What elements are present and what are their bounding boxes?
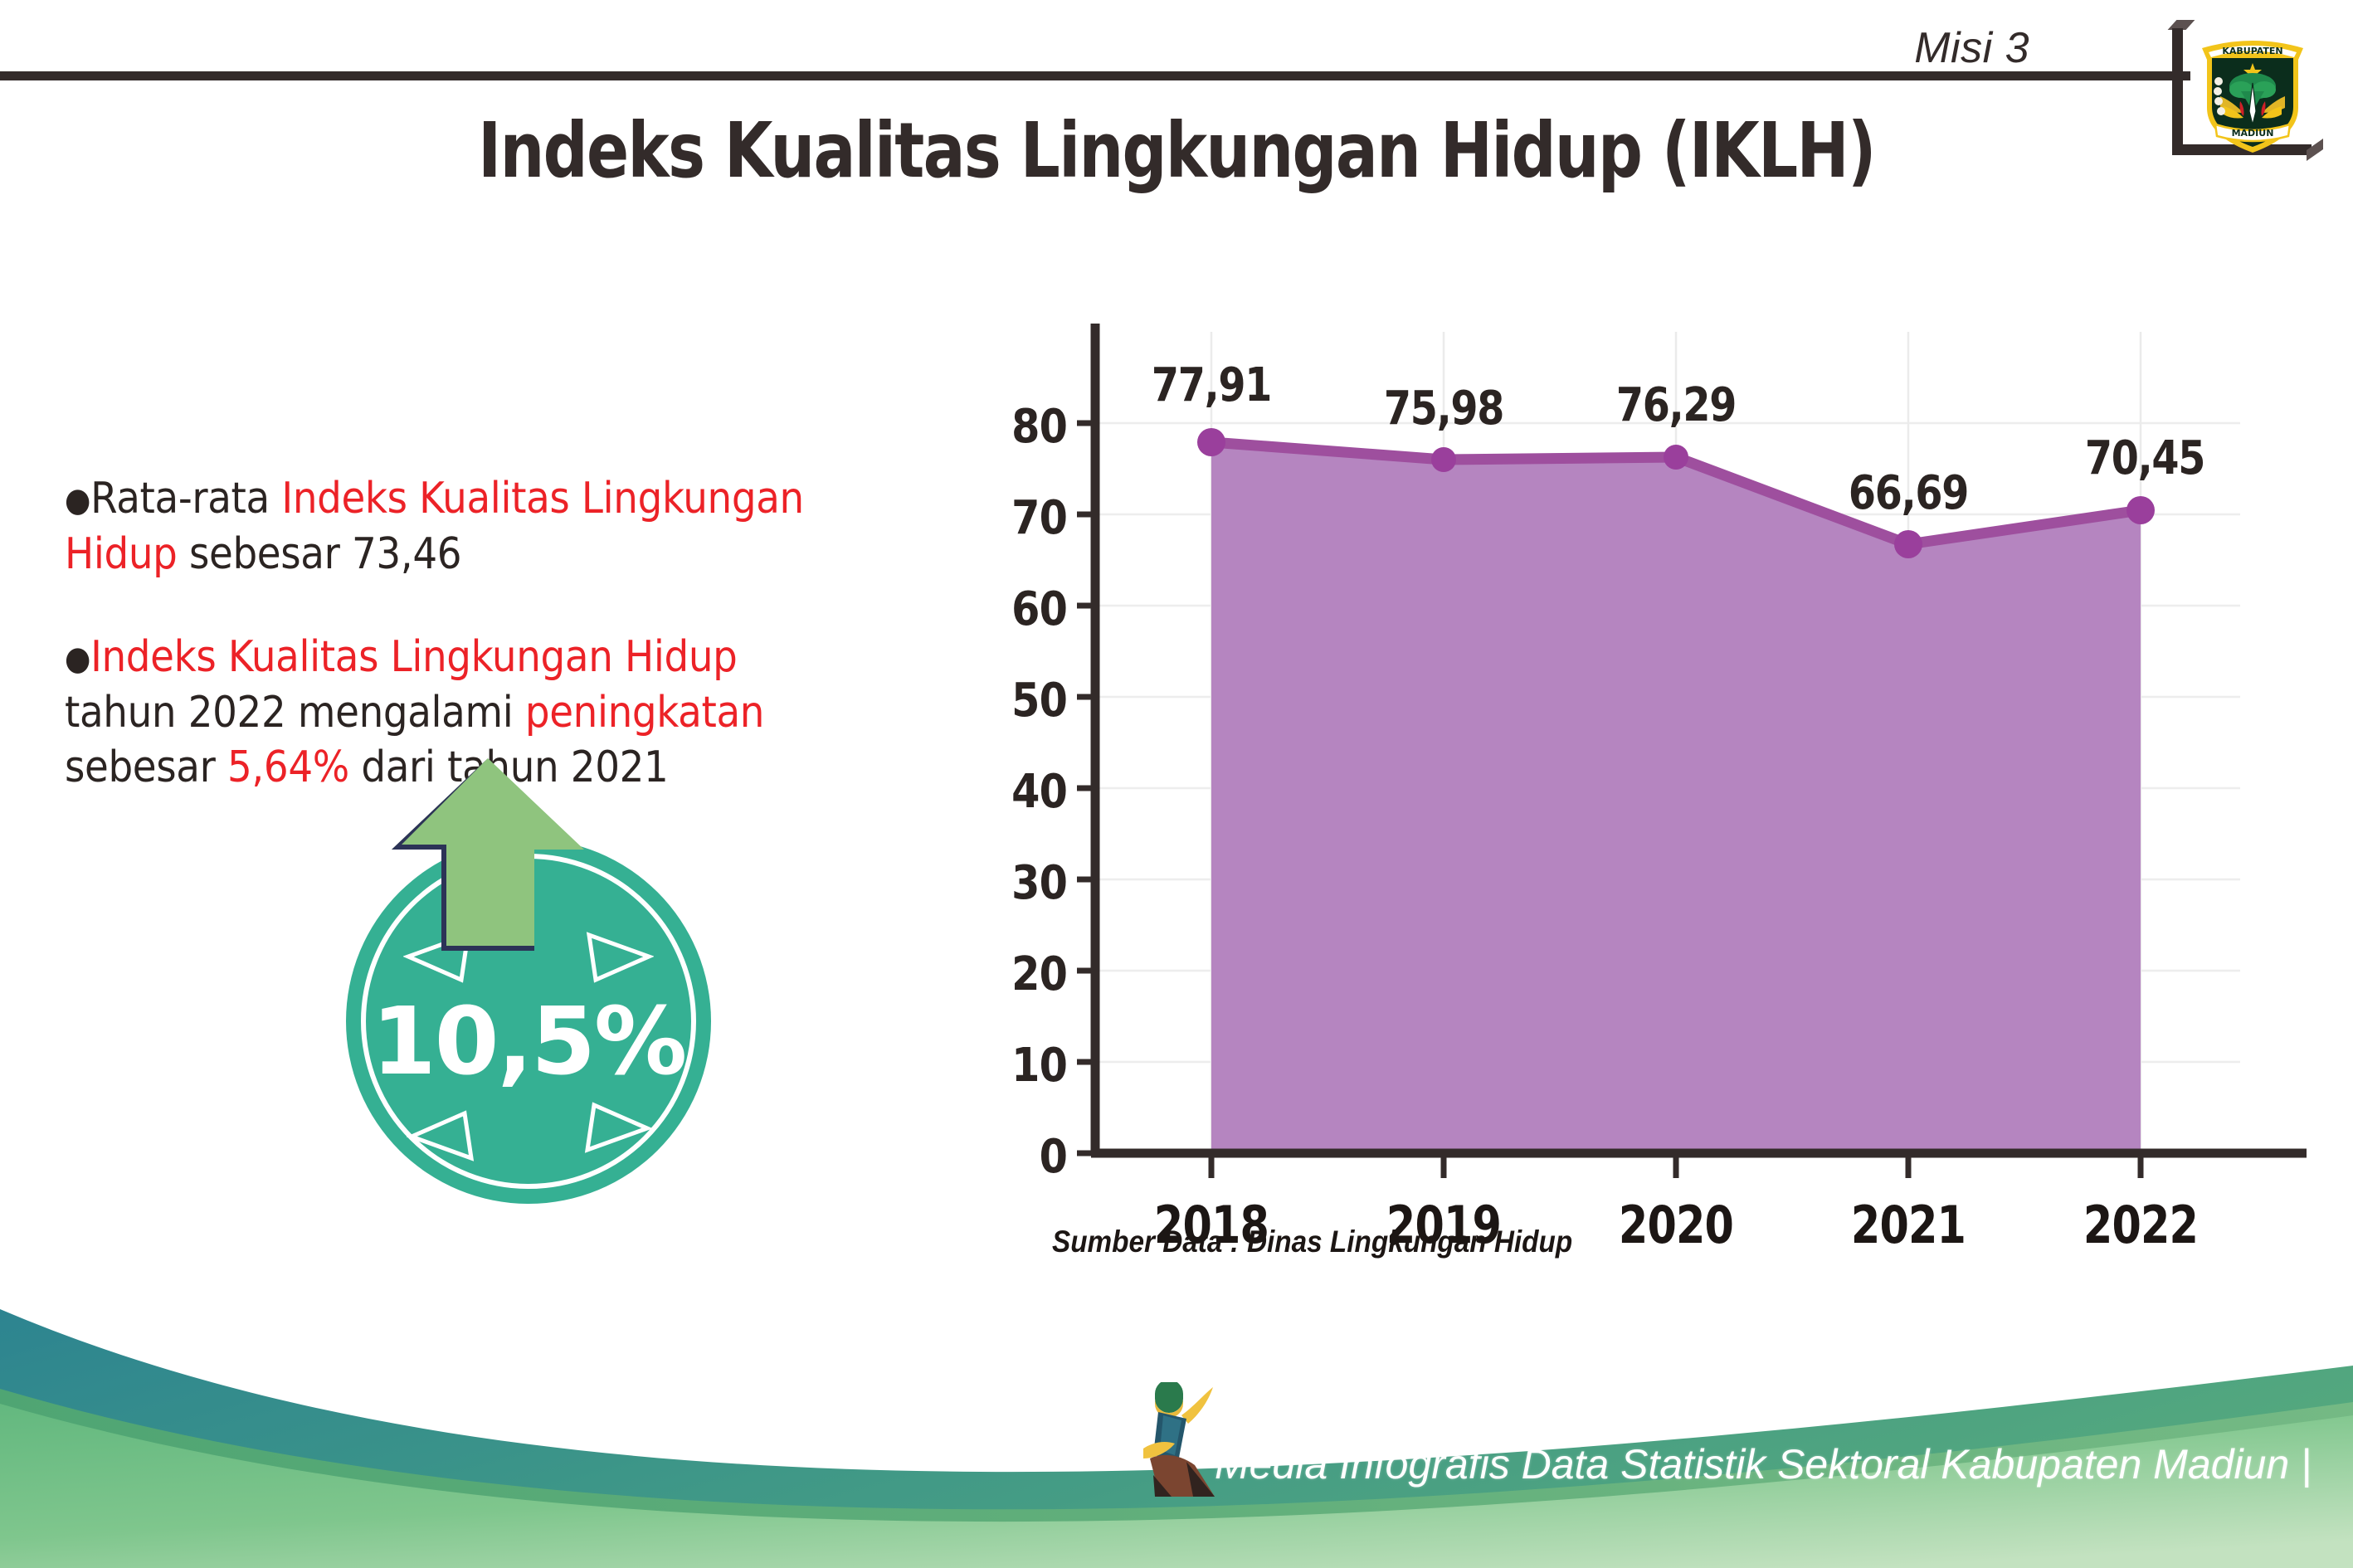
badge-tick-bottom-left-icon	[407, 1108, 476, 1163]
data-label-2021: 66,69	[1827, 466, 1990, 520]
bullet-dot-icon: ●	[65, 640, 90, 678]
kabupaten-madiun-crest-icon: KABUPATEN MADIUN	[2195, 32, 2310, 156]
y-tick-label-0: 0	[982, 1130, 1067, 1184]
svg-text:KABUPATEN: KABUPATEN	[2222, 46, 2282, 56]
footer-caption: Media Infografis Data Statistik Sektoral…	[1215, 1440, 2312, 1488]
logo-frame: KABUPATEN MADIUN	[2152, 18, 2343, 163]
area-fill	[1211, 442, 2141, 1153]
badge-tick-top-right-icon	[584, 930, 654, 985]
up-arrow-icon	[388, 752, 587, 959]
badge-tick-bottom-right-icon	[582, 1100, 652, 1155]
y-tick-label-70: 70	[982, 491, 1067, 545]
data-label-2018: 77,91	[1130, 358, 1293, 412]
y-tick-label-60: 60	[982, 582, 1067, 636]
badge-percent-label: 10,5%	[346, 988, 711, 1096]
data-label-2020: 76,29	[1595, 378, 1757, 432]
x-tick-label-2022: 2022	[2059, 1195, 2223, 1255]
bullet-2-seg-3: sebesar	[65, 743, 227, 792]
y-tick-label-30: 30	[982, 856, 1067, 910]
bullet-dot-icon: ●	[65, 481, 90, 519]
data-label-2019: 75,98	[1362, 382, 1525, 436]
svg-text:MADIUN: MADIUN	[2232, 128, 2274, 139]
frame-vertical-bar	[2172, 28, 2183, 154]
y-tick-label-10: 10	[982, 1039, 1067, 1093]
y-tick-label-20: 20	[982, 947, 1067, 1001]
header-divider	[0, 71, 2190, 80]
mission-label: Misi 3	[1914, 23, 2029, 73]
data-label-2022: 70,45	[2063, 431, 2226, 485]
bullet-2-seg-0: Indeks Kualitas Lingkungan Hidup	[90, 632, 737, 682]
infographic-slide: Misi 3	[0, 0, 2353, 1568]
bullet-1-seg-0: Rata-rata	[90, 474, 281, 523]
x-tick-label-2021: 2021	[1827, 1195, 1990, 1255]
source-note: Sumber Data : Dinas Lingkungan Hidup	[1052, 1225, 1572, 1259]
bullet-2-seg-2: peningkatan	[525, 688, 764, 738]
y-tick-label-40: 40	[982, 765, 1067, 819]
page-title: Indeks Kualitas Lingkungan Hidup (IKLH)	[212, 106, 2141, 195]
bullet-1-seg-2: sebesar 73,46	[177, 529, 461, 579]
x-tick-label-2020: 2020	[1595, 1195, 1758, 1255]
increase-badge: 10,5%	[325, 752, 773, 1204]
iklh-area-chart: 0 10 20 30 40 50 60 70 80 77,91 75,98 76…	[979, 299, 2307, 1294]
bullet-2-seg-1: tahun 2022 mengalami	[65, 688, 525, 738]
list-item: ●Rata-rata Indeks Kualitas Lingkungan Hi…	[65, 471, 841, 582]
y-tick-label-50: 50	[982, 674, 1067, 728]
y-tick-label-80: 80	[982, 400, 1067, 454]
